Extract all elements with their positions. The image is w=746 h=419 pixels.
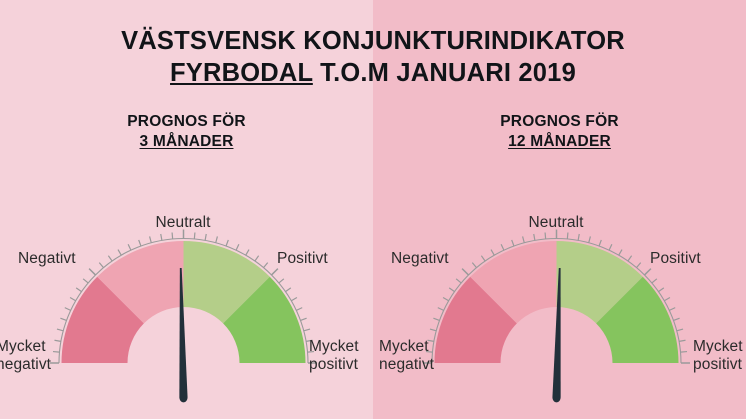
gauge-tick bbox=[83, 279, 88, 283]
gauge-tick bbox=[57, 329, 63, 331]
gauge-tick bbox=[628, 256, 632, 261]
gauge-label-very-negative-line-1: Mycket bbox=[0, 338, 51, 356]
gauge-tick bbox=[291, 298, 297, 301]
gauge-tick bbox=[272, 269, 278, 275]
gauge-tick bbox=[501, 244, 504, 250]
gauge-3-months: Neutralt Negativt Positivt Mycket negati… bbox=[0, 200, 373, 419]
panel-heading-line-1: PROGNOS FÖR bbox=[0, 112, 373, 132]
gauge-tick bbox=[246, 250, 249, 256]
gauge-tick bbox=[226, 240, 228, 246]
gauge-tick bbox=[456, 279, 461, 283]
gauge-tick bbox=[677, 329, 683, 331]
panel-heading-line-1: PROGNOS FÖR bbox=[373, 112, 746, 132]
gauge-tick bbox=[128, 244, 131, 250]
gauge-tick bbox=[139, 240, 141, 246]
gauge-tick bbox=[449, 288, 454, 292]
gauge-tick bbox=[205, 234, 206, 240]
gauge-label-very-positive-line-1: Mycket bbox=[693, 338, 743, 356]
gauge-label-very-negative: Mycket negativt bbox=[0, 338, 51, 374]
gauge-tick bbox=[679, 340, 685, 341]
gauge-tick bbox=[54, 340, 60, 341]
gauge-tick bbox=[70, 298, 76, 301]
gauge-tick bbox=[443, 298, 449, 301]
title-line-2: FYRBODAL T.O.M JANUARI 2019 bbox=[0, 58, 746, 89]
gauge-tick bbox=[65, 308, 71, 311]
gauge-label-very-positive-line-1: Mycket bbox=[309, 338, 359, 356]
gauge-tick bbox=[300, 318, 306, 320]
gauge-svg bbox=[373, 200, 746, 419]
gauge-tick bbox=[279, 279, 284, 283]
gauge-tick bbox=[619, 250, 622, 256]
gauge-tick bbox=[681, 352, 687, 353]
gauge-tick bbox=[89, 269, 95, 275]
gauge-12-months: Neutralt Negativt Positivt Mycket negati… bbox=[373, 200, 746, 419]
gauge-tick bbox=[658, 288, 663, 292]
gauge-tick bbox=[545, 232, 546, 238]
gauge-label-positive: Positivt bbox=[277, 250, 328, 268]
gauge-tick bbox=[108, 256, 112, 261]
gauge-tick bbox=[430, 329, 436, 331]
gauge-label-very-negative-line-1: Mycket bbox=[379, 338, 434, 356]
gauge-tick bbox=[264, 263, 268, 268]
title-period: T.O.M JANUARI 2019 bbox=[313, 59, 576, 87]
gauge-label-very-negative: Mycket negativt bbox=[379, 338, 434, 374]
gauge-tick bbox=[512, 240, 514, 246]
gauge-tick bbox=[567, 232, 568, 238]
gauge-tick bbox=[236, 244, 239, 250]
gauge-tick bbox=[669, 308, 675, 311]
gauge-svg bbox=[0, 200, 373, 419]
gauge-tick bbox=[664, 298, 670, 301]
gauge-tick bbox=[172, 232, 173, 238]
gauge-tick bbox=[673, 318, 679, 320]
gauge-label-neutral: Neutralt bbox=[528, 214, 583, 232]
panel-heading-line-2: 3 MÅNADER bbox=[0, 132, 373, 152]
gauge-tick bbox=[491, 250, 494, 256]
gauge-tick bbox=[99, 263, 103, 268]
gauge-tick bbox=[118, 250, 121, 256]
gauge-tick bbox=[194, 232, 195, 238]
gauge-tick bbox=[481, 256, 485, 261]
gauge-tick bbox=[472, 263, 476, 268]
gauge-label-negative: Negativt bbox=[391, 250, 449, 268]
title-region-name: FYRBODAL bbox=[170, 59, 313, 87]
gauge-label-very-negative-line-2: negativt bbox=[0, 356, 51, 374]
infographic-canvas: VÄSTSVENSK KONJUNKTURINDIKATOR FYRBODAL … bbox=[0, 0, 746, 419]
gauge-label-very-positive: Mycket positivt bbox=[309, 338, 359, 374]
gauge-tick bbox=[304, 329, 310, 331]
title-line-1: VÄSTSVENSK KONJUNKTURINDIKATOR bbox=[0, 26, 746, 57]
gauge-label-very-positive: Mycket positivt bbox=[693, 338, 743, 374]
gauge-tick bbox=[637, 263, 641, 268]
gauge-tick bbox=[216, 236, 218, 242]
gauge-label-negative: Negativt bbox=[18, 250, 76, 268]
gauge-label-neutral: Neutralt bbox=[155, 214, 210, 232]
gauge-label-very-negative-line-2: negativt bbox=[379, 356, 434, 374]
gauge-tick bbox=[462, 269, 468, 275]
gauge-tick bbox=[578, 234, 579, 240]
gauge-tick bbox=[599, 240, 601, 246]
gauge-tick bbox=[76, 288, 81, 292]
gauge-tick bbox=[645, 269, 651, 275]
gauge-tick bbox=[609, 244, 612, 250]
panel-heading-3-months: PROGNOS FÖR 3 MÅNADER bbox=[0, 112, 373, 153]
gauge-tick bbox=[60, 318, 66, 320]
gauge-tick bbox=[150, 236, 152, 242]
gauge-tick bbox=[589, 236, 591, 242]
page-title: VÄSTSVENSK KONJUNKTURINDIKATOR FYRBODAL … bbox=[0, 26, 746, 89]
gauge-tick bbox=[438, 308, 444, 311]
gauge-tick bbox=[53, 352, 59, 353]
gauge-tick bbox=[296, 308, 302, 311]
gauge-tick bbox=[255, 256, 259, 261]
gauge-tick bbox=[285, 288, 290, 292]
gauge-tick bbox=[433, 318, 439, 320]
gauge-label-very-positive-line-2: positivt bbox=[309, 356, 359, 374]
panel-heading-12-months: PROGNOS FÖR 12 MÅNADER bbox=[373, 112, 746, 153]
gauge-label-very-positive-line-2: positivt bbox=[693, 356, 743, 374]
gauge-label-positive: Positivt bbox=[650, 250, 701, 268]
gauge-tick bbox=[523, 236, 525, 242]
gauge-tick bbox=[161, 234, 162, 240]
gauge-tick bbox=[534, 234, 535, 240]
gauge-tick bbox=[652, 279, 657, 283]
panel-heading-line-2: 12 MÅNADER bbox=[373, 132, 746, 152]
